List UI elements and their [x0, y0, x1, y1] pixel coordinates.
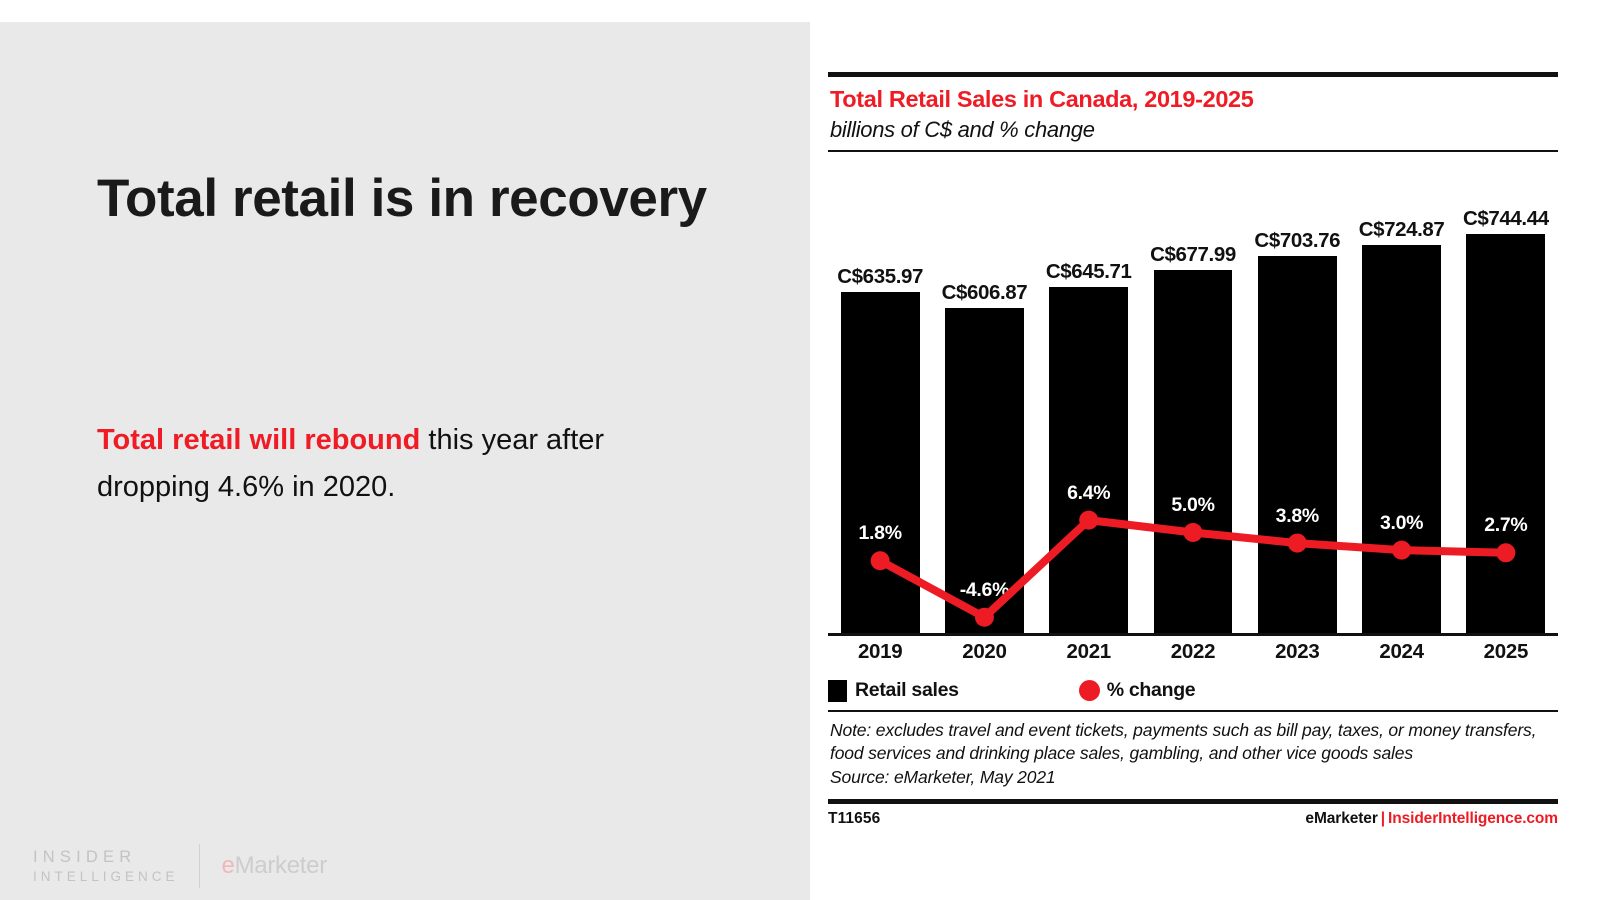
pct-change-point-2021 — [1079, 510, 1098, 529]
chart-header: Total Retail Sales in Canada, 2019-2025 … — [828, 77, 1558, 150]
legend-item-pct-change: % change — [1079, 679, 1196, 702]
chart-subtitle: billions of C$ and % change — [830, 116, 1558, 144]
table-id: T11656 — [828, 810, 880, 828]
plot-area: C$635.97C$606.87C$645.71C$677.99C$703.76… — [828, 182, 1558, 634]
pct-change-line-series — [828, 182, 1558, 634]
logo-line-insider: INSIDER — [33, 847, 179, 868]
emarketer-wordmark: eMarketer — [222, 852, 331, 880]
source-text: Source: eMarketer, May 2021 — [830, 766, 1558, 790]
chart-card: Total Retail Sales in Canada, 2019-2025 … — [828, 72, 1558, 828]
insider-intelligence-wordmark: INSIDER INTELLIGENCE — [33, 847, 179, 885]
chart-title: Total Retail Sales in Canada, 2019-2025 — [830, 85, 1558, 113]
x-tick-2021: 2021 — [1037, 640, 1141, 664]
legend-label-pct-change: % change — [1107, 679, 1196, 702]
summary-paragraph: Total retail will rebound this year afte… — [97, 417, 707, 511]
x-tick-2022: 2022 — [1141, 640, 1245, 664]
pct-change-point-2020 — [975, 607, 994, 626]
pct-change-point-2023 — [1288, 533, 1307, 552]
left-text-panel: Total retail is in recovery Total retail… — [0, 22, 810, 900]
x-tick-2025: 2025 — [1454, 640, 1558, 664]
page-title: Total retail is in recovery — [97, 168, 737, 229]
pct-change-point-2019 — [871, 551, 890, 570]
x-tick-2024: 2024 — [1349, 640, 1453, 664]
emarketer-initial: e — [222, 852, 235, 879]
chart-footer: T11656 eMarketer|InsiderIntelligence.com — [828, 804, 1558, 828]
brand-emarketer: eMarketer — [1305, 810, 1377, 827]
pct-change-point-2025 — [1496, 543, 1515, 562]
header-divider-rule — [828, 150, 1558, 152]
emarketer-rest: Marketer — [235, 852, 327, 879]
pct-change-point-2022 — [1184, 523, 1203, 542]
x-tick-2023: 2023 — [1245, 640, 1349, 664]
legend-label-retail-sales: Retail sales — [855, 679, 959, 702]
red-circle-icon — [1079, 680, 1100, 701]
x-tick-2019: 2019 — [828, 640, 932, 664]
registered-mark — [327, 861, 330, 876]
slide: Total retail is in recovery Total retail… — [0, 0, 1600, 900]
chart-notes: Note: excludes travel and event tickets,… — [828, 712, 1558, 799]
insider-intelligence-logo: INSIDER INTELLIGENCE eMarketer — [33, 844, 330, 888]
summary-highlight: Total retail will rebound — [97, 424, 420, 456]
note-text: Note: excludes travel and event tickets,… — [830, 719, 1558, 767]
black-square-icon — [828, 680, 847, 702]
legend-item-retail-sales: Retail sales — [828, 679, 959, 702]
brand-separator: | — [1381, 810, 1385, 827]
brand-url: InsiderIntelligence.com — [1388, 810, 1558, 827]
x-tick-2020: 2020 — [932, 640, 1036, 664]
logo-divider — [199, 844, 200, 888]
x-axis-labels: 2019202020212022202320242025 — [828, 634, 1558, 668]
chart-legend: Retail sales % change — [828, 672, 1558, 710]
pct-change-point-2024 — [1392, 540, 1411, 559]
brand-attribution: eMarketer|InsiderIntelligence.com — [1305, 810, 1558, 828]
logo-line-intelligence: INTELLIGENCE — [33, 868, 179, 885]
